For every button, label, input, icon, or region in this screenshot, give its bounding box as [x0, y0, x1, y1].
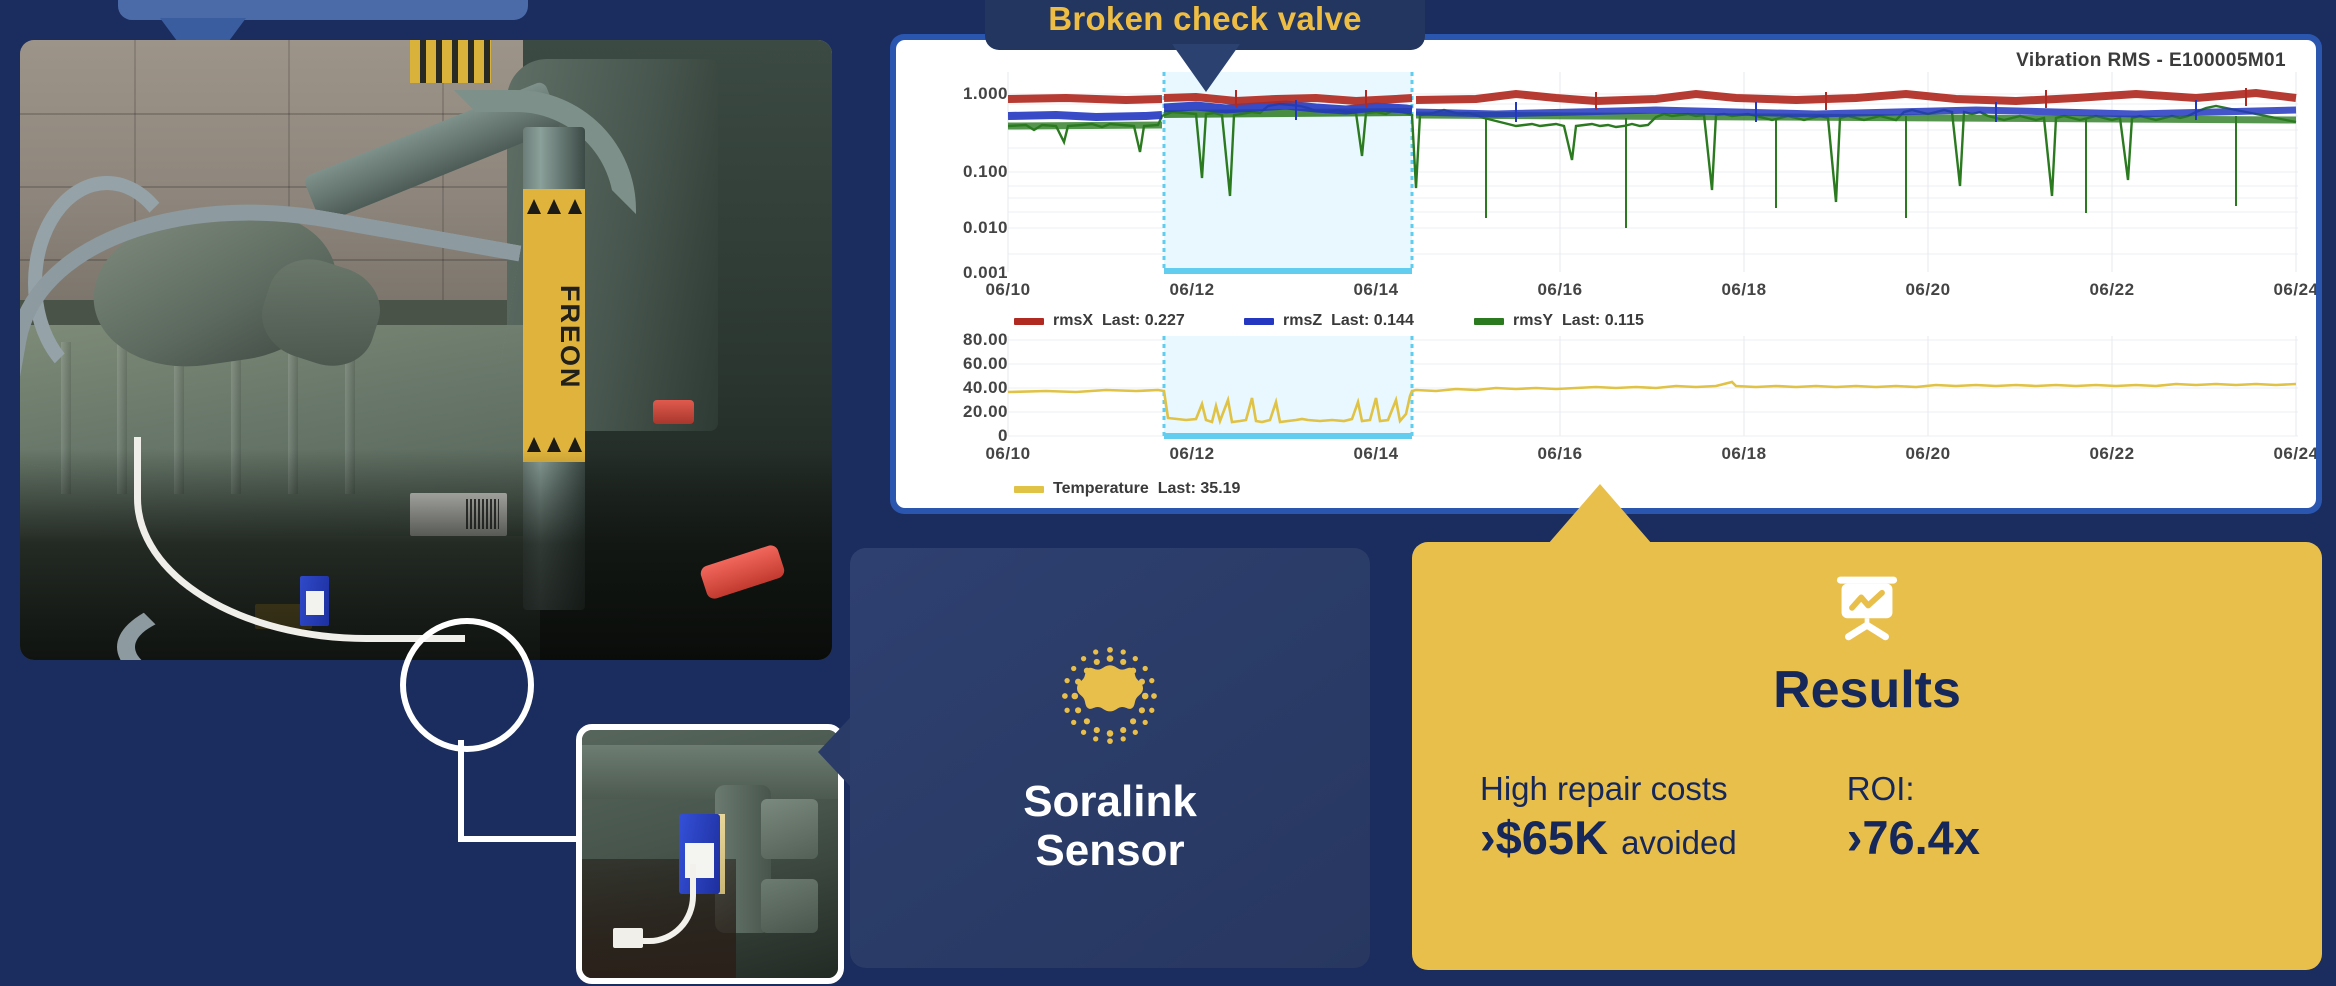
- vib-xtick-4: 06/16: [1537, 280, 1582, 300]
- legend-rmsy[interactable]: rmsY Last: 0.115: [1474, 312, 1644, 330]
- legend-swatch-rmsy: [1474, 318, 1504, 325]
- vib-ytick-1: 1.000: [963, 84, 1008, 104]
- vib-xtick-6: 06/20: [1905, 280, 1950, 300]
- leader-line-vertical: [458, 740, 464, 840]
- soralink-sensor-device: [300, 576, 329, 626]
- temp-xtick-8: 06/24: [2273, 444, 2316, 464]
- legend-label-rmsx: rmsX: [1053, 312, 1093, 330]
- temp-xtick-6: 06/20: [1905, 444, 1950, 464]
- stat-repair-amount: $65K: [1496, 811, 1608, 864]
- soralink-title-line1: Soralink: [1023, 777, 1197, 826]
- temp-xtick-7: 06/22: [2089, 444, 2134, 464]
- leader-line-horizontal: [458, 836, 578, 842]
- vib-xtick-5: 06/18: [1721, 280, 1766, 300]
- legend-swatch-rmsz: [1244, 318, 1274, 325]
- stat-repair-suffix: avoided: [1621, 824, 1737, 861]
- inset-bolt-upper: [761, 799, 817, 859]
- legend-swatch-temperature: [1014, 486, 1044, 493]
- temp-ytick-5: 0: [998, 426, 1008, 446]
- legend-label-rmsz: rmsZ: [1283, 312, 1322, 330]
- temp-xtick-4: 06/16: [1537, 444, 1582, 464]
- vibration-plot[interactable]: 1.000 0.100 0.010 0.001 06/10 06/12 06/1…: [896, 68, 2316, 308]
- temp-xtick-1: 06/10: [985, 444, 1030, 464]
- freon-pipe-label: FREON: [523, 245, 585, 431]
- stat-roi-amount: 76.4x: [1862, 811, 1980, 864]
- sensor-zoom-inset: [576, 724, 844, 984]
- soralink-sensor-title: Soralink Sensor: [1023, 777, 1197, 876]
- temp-ytick-1: 80.00: [963, 330, 1008, 350]
- photo-hazard-stripe: [410, 40, 491, 83]
- temp-xtick-2: 06/12: [1169, 444, 1214, 464]
- callout-pointer-icon: [1172, 44, 1240, 92]
- top-callout-box: [118, 0, 528, 20]
- vib-xtick-7: 06/22: [2089, 280, 2134, 300]
- soralink-title-line2: Sensor: [1023, 826, 1197, 875]
- results-stats: High repair costs ›$65K avoided ROI: ›76…: [1452, 770, 2282, 865]
- temp-ytick-2: 60.00: [963, 354, 1008, 374]
- legend-last-rmsy: Last: 0.115: [1562, 312, 1644, 330]
- stat-roi: ROI: ›76.4x: [1847, 770, 1980, 865]
- vibration-plot-svg: [896, 68, 2316, 308]
- temp-ytick-3: 40.00: [963, 378, 1008, 398]
- soralink-burst-icon: [1055, 641, 1165, 751]
- temperature-plot[interactable]: 80.00 60.00 40.00 20.00 0 06/10 06/12 06…: [896, 336, 2316, 486]
- vib-ytick-2: 0.100: [963, 162, 1008, 182]
- vib-xtick-1: 06/10: [985, 280, 1030, 300]
- legend-last-rmsz: Last: 0.144: [1331, 312, 1414, 330]
- legend-swatch-rmsx: [1014, 318, 1044, 325]
- legend-label-temperature: Temperature: [1053, 480, 1149, 498]
- legend-last-rmsx: Last: 0.227: [1102, 312, 1185, 330]
- inset-pipe-top: [582, 745, 838, 800]
- sensor-label: [306, 591, 324, 615]
- vib-xtick-2: 06/12: [1169, 280, 1214, 300]
- legend-label-rmsy: rmsY: [1513, 312, 1553, 330]
- stat-roi-value: ›76.4x: [1847, 810, 1980, 865]
- soralink-sensor-panel: Soralink Sensor: [850, 548, 1370, 968]
- stat-repair-costs-value: ›$65K avoided: [1480, 810, 1737, 865]
- red-fitting-small: [653, 400, 694, 425]
- results-title: Results: [1452, 660, 2282, 720]
- legend-rmsx[interactable]: rmsX Last: 0.227: [1014, 312, 1185, 330]
- vib-ytick-3: 0.010: [963, 218, 1008, 238]
- flow-arrows-upper: [523, 195, 585, 217]
- inset-bolt-lower: [761, 879, 817, 934]
- results-panel: Results High repair costs ›$65K avoided …: [1412, 542, 2322, 970]
- vib-xtick-8: 06/24: [2273, 280, 2316, 300]
- temp-xtick-5: 06/18: [1721, 444, 1766, 464]
- vibration-chart-card: Vibration RMS - E100005M01: [890, 34, 2322, 514]
- stat-repair-costs-label: High repair costs: [1480, 770, 1737, 808]
- machine-photo: FREON: [20, 40, 832, 660]
- broken-check-valve-callout: Broken check valve: [985, 0, 1425, 50]
- stat-roi-label: ROI:: [1847, 770, 1980, 808]
- temp-ytick-4: 20.00: [963, 402, 1008, 422]
- vib-xtick-3: 06/14: [1353, 280, 1398, 300]
- legend-temperature[interactable]: Temperature Last: 35.19: [1014, 480, 1240, 498]
- chart-canvas[interactable]: Vibration RMS - E100005M01: [896, 40, 2316, 508]
- presentation-chart-icon: [1830, 572, 1904, 646]
- temp-xtick-3: 06/14: [1353, 444, 1398, 464]
- legend-rmsz[interactable]: rmsZ Last: 0.144: [1244, 312, 1414, 330]
- results-to-chart-arrow-icon: [1548, 484, 1652, 544]
- stat-roi-prefix: ›: [1847, 811, 1863, 864]
- sensor-highlight-circle: [400, 618, 534, 752]
- inset-cable-tag: [613, 928, 644, 948]
- stat-repair-prefix: ›: [1480, 811, 1496, 864]
- broken-check-valve-callout-label: Broken check valve: [1048, 0, 1362, 38]
- legend-last-temperature: Last: 35.19: [1158, 480, 1241, 498]
- stat-repair-costs: High repair costs ›$65K avoided: [1480, 770, 1737, 865]
